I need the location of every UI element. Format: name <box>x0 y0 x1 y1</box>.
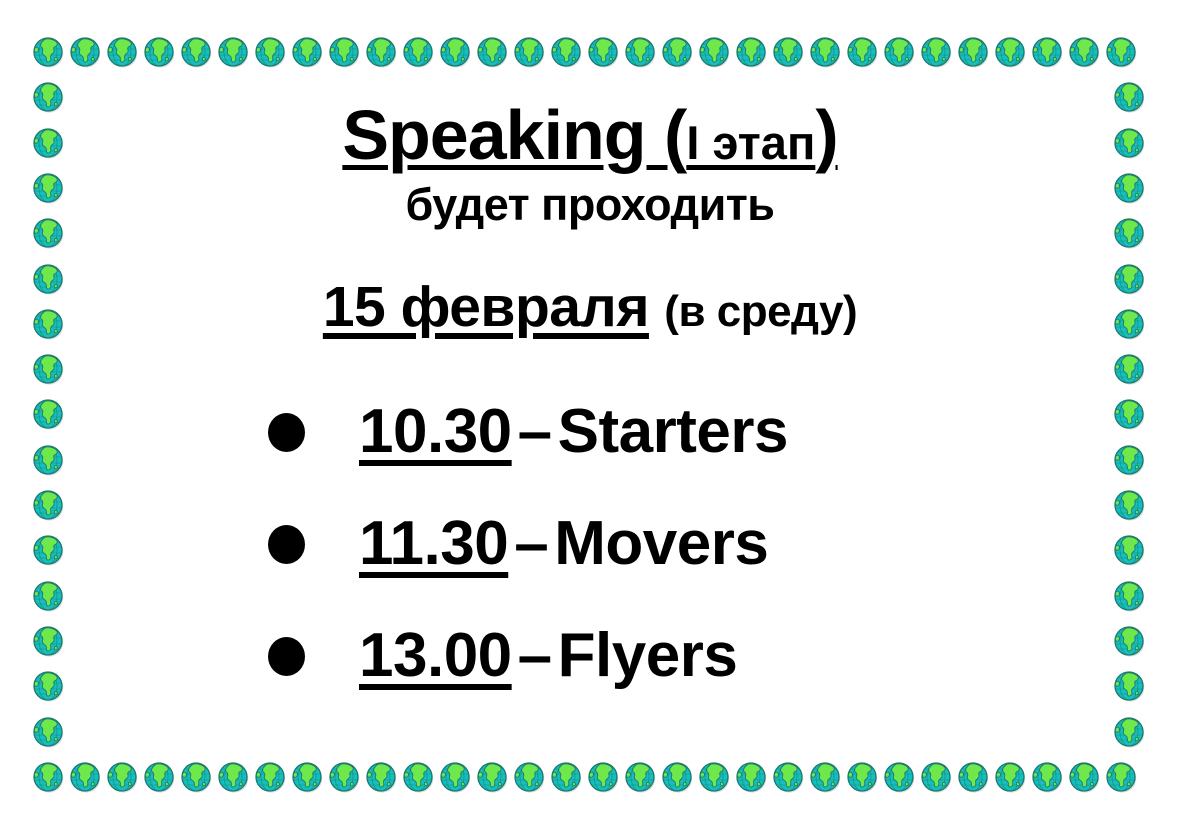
globe-icon <box>142 35 176 69</box>
globe-icon <box>956 760 990 794</box>
globe-icon <box>327 760 361 794</box>
globe-icon <box>31 126 65 160</box>
globe-icon <box>512 35 546 69</box>
globe-icon <box>1112 126 1146 160</box>
globe-icon <box>290 35 324 69</box>
globe-icon <box>1030 35 1064 69</box>
globe-icon <box>68 760 102 794</box>
schedule-level: Starters <box>558 397 788 466</box>
globe-icon <box>31 443 65 477</box>
poster: Speaking (I этап) будет проходить 15 фев… <box>0 0 1180 835</box>
globe-icon <box>31 397 65 431</box>
globe-icon <box>68 35 102 69</box>
schedule-row-text: 10.30–Starters <box>359 401 788 463</box>
globe-icon <box>31 624 65 658</box>
schedule-separator: – <box>508 509 554 578</box>
globe-icon <box>993 760 1027 794</box>
globe-icon <box>697 35 731 69</box>
bullet-icon <box>268 413 305 452</box>
globe-icon <box>31 80 65 114</box>
schedule-time: 13.00 <box>359 621 512 690</box>
schedule-row-text: 11.30–Movers <box>359 513 768 575</box>
globe-icon <box>31 579 65 613</box>
globe-icon <box>586 35 620 69</box>
globe-icon <box>808 35 842 69</box>
globe-icon <box>623 760 657 794</box>
bullet-icon <box>268 525 305 564</box>
globe-icon <box>142 760 176 794</box>
poster-content: Speaking (I этап) будет проходить 15 фев… <box>70 78 1110 750</box>
globe-icon <box>956 35 990 69</box>
globe-icon <box>364 35 398 69</box>
globe-icon <box>31 171 65 205</box>
globe-icon <box>31 669 65 703</box>
subtitle: будет проходить <box>70 182 1110 227</box>
globe-icon <box>512 760 546 794</box>
globe-icon <box>105 35 139 69</box>
globe-icon <box>919 760 953 794</box>
globe-icon <box>401 35 435 69</box>
title-main-text: Speaking ( <box>342 96 686 174</box>
globe-icon <box>1112 307 1146 341</box>
globe-icon <box>623 35 657 69</box>
list-item: 10.30–Starters <box>70 376 1110 488</box>
globe-icon <box>1067 35 1101 69</box>
globe-icon <box>31 533 65 567</box>
date-main-text: 15 февраля <box>323 275 649 339</box>
schedule-separator: – <box>512 397 558 466</box>
globe-icon <box>1067 760 1101 794</box>
globe-icon <box>438 760 472 794</box>
globe-icon <box>660 35 694 69</box>
globe-icon <box>31 488 65 522</box>
globe-icon <box>1112 488 1146 522</box>
globe-icon <box>1112 624 1146 658</box>
globe-icon <box>1112 397 1146 431</box>
schedule-row-text: 13.00–Flyers <box>359 625 737 687</box>
globe-icon <box>660 760 694 794</box>
globe-icon <box>771 760 805 794</box>
globe-icon <box>31 262 65 296</box>
globe-icon <box>1112 579 1146 613</box>
globe-icon <box>1104 35 1138 69</box>
globe-icon <box>734 760 768 794</box>
globe-icon <box>1112 715 1146 749</box>
globe-icon <box>1112 533 1146 567</box>
globe-icon <box>993 35 1027 69</box>
globe-icon <box>1112 80 1146 114</box>
schedule-level: Movers <box>554 509 768 578</box>
schedule-separator: – <box>512 621 558 690</box>
date-line: 15 февраля (в среду) <box>70 279 1110 336</box>
globe-icon <box>253 760 287 794</box>
title-stage-text: I этап <box>686 116 815 169</box>
page-title: Speaking (I этап) <box>70 100 1110 170</box>
globe-icon <box>549 35 583 69</box>
globe-icon <box>1112 352 1146 386</box>
globe-icon <box>1112 669 1146 703</box>
globe-icon <box>401 760 435 794</box>
globe-icon <box>919 35 953 69</box>
list-item: 11.30–Movers <box>70 488 1110 600</box>
date-weekday-text: (в среду) <box>664 287 857 336</box>
globe-icon <box>31 715 65 749</box>
globe-icon <box>808 760 842 794</box>
globe-icon <box>179 760 213 794</box>
globe-icon <box>845 760 879 794</box>
globe-icon <box>216 35 250 69</box>
globe-icon <box>882 760 916 794</box>
bullet-icon <box>268 637 305 676</box>
globe-icon <box>475 760 509 794</box>
title-close-paren: ) <box>815 96 837 174</box>
globe-icon <box>290 760 324 794</box>
globe-icon <box>1030 760 1064 794</box>
globe-icon <box>179 35 213 69</box>
globe-icon <box>734 35 768 69</box>
globe-icon <box>105 760 139 794</box>
schedule-time: 10.30 <box>359 397 512 466</box>
globe-icon <box>364 760 398 794</box>
schedule-time: 11.30 <box>359 509 508 578</box>
globe-icon <box>549 760 583 794</box>
globe-icon <box>771 35 805 69</box>
globe-icon <box>586 760 620 794</box>
globe-icon <box>31 760 65 794</box>
globe-icon <box>1112 443 1146 477</box>
schedule-level: Flyers <box>558 621 738 690</box>
globe-icon <box>31 35 65 69</box>
globe-icon <box>697 760 731 794</box>
globe-icon <box>327 35 361 69</box>
globe-icon <box>1112 216 1146 250</box>
globe-icon <box>882 35 916 69</box>
schedule-list: 10.30–Starters 11.30–Movers 13.00–Flyers <box>70 376 1110 712</box>
globe-icon <box>438 35 472 69</box>
globe-icon <box>1112 262 1146 296</box>
globe-icon <box>845 35 879 69</box>
globe-icon <box>216 760 250 794</box>
globe-icon <box>475 35 509 69</box>
globe-icon <box>31 216 65 250</box>
list-item: 13.00–Flyers <box>70 600 1110 712</box>
globe-icon <box>1104 760 1138 794</box>
globe-icon <box>1112 171 1146 205</box>
globe-icon <box>31 307 65 341</box>
globe-icon <box>31 352 65 386</box>
globe-icon <box>253 35 287 69</box>
